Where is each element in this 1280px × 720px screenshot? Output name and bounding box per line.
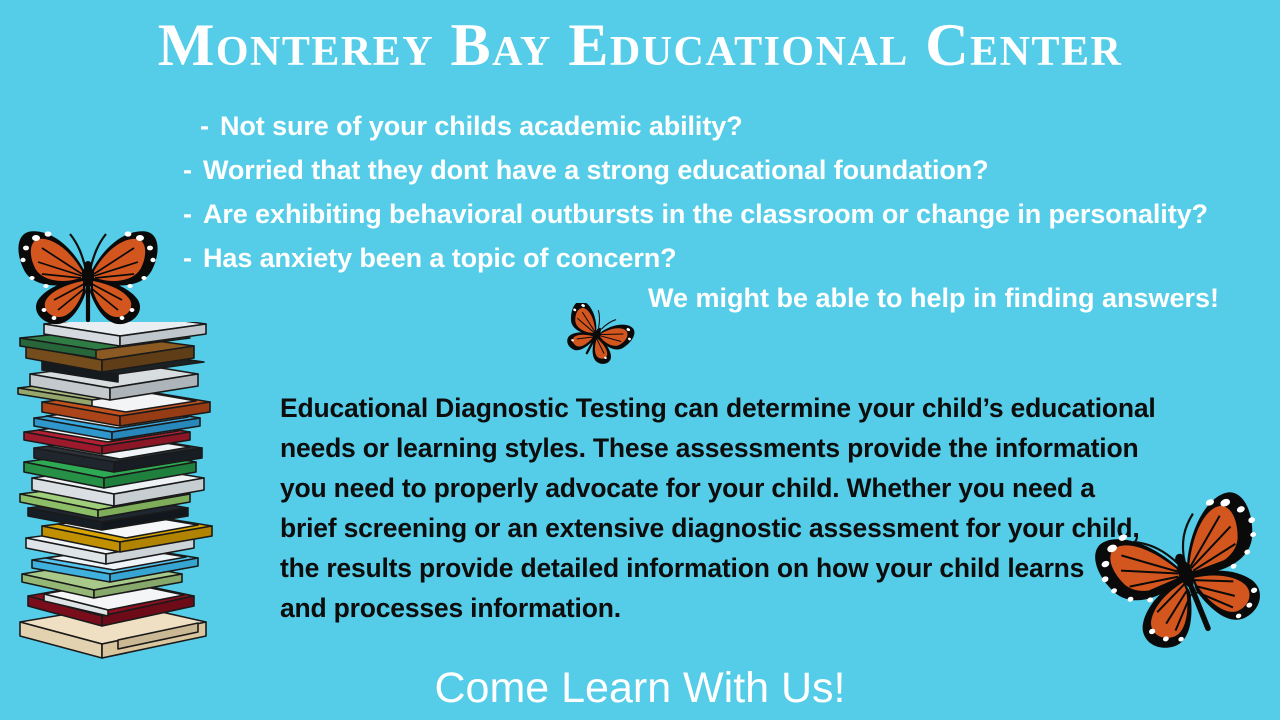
list-item: - Has anxiety been a topic of concern? bbox=[183, 236, 1243, 280]
question-list: - Not sure of your childs academic abili… bbox=[183, 104, 1243, 280]
paragraph-line: and processes information. bbox=[280, 588, 1170, 628]
paragraph-line: brief screening or an extensive diagnost… bbox=[280, 508, 1170, 548]
question-text: Are exhibiting behavioral outbursts in t… bbox=[203, 192, 1208, 236]
paragraph-line: you need to properly advocate for your c… bbox=[280, 468, 1170, 508]
paragraph-line: needs or learning styles. These assessme… bbox=[280, 428, 1170, 468]
butterfly-middle-icon bbox=[558, 303, 636, 365]
poster-canvas: Monterey Bay Educational Center - Not su… bbox=[0, 0, 1280, 720]
bullet-dash: - bbox=[200, 104, 220, 148]
list-item: - Not sure of your childs academic abili… bbox=[200, 104, 1243, 148]
list-item: - Worried that they dont have a strong e… bbox=[183, 148, 1243, 192]
butterfly-bottom-icon bbox=[1092, 486, 1280, 656]
book-stack-illustration bbox=[0, 322, 228, 667]
page-title: Monterey Bay Educational Center bbox=[0, 14, 1280, 77]
question-text: Worried that they dont have a strong edu… bbox=[203, 148, 989, 192]
bullet-dash: - bbox=[183, 236, 203, 280]
list-item: - Are exhibiting behavioral outbursts in… bbox=[183, 192, 1243, 236]
butterfly-top-icon bbox=[8, 218, 168, 338]
paragraph-line: Educational Diagnostic Testing can deter… bbox=[280, 388, 1170, 428]
paragraph-line: the results provide detailed information… bbox=[280, 548, 1170, 588]
body-paragraph: Educational Diagnostic Testing can deter… bbox=[280, 388, 1170, 628]
help-tagline: We might be able to help in finding answ… bbox=[648, 283, 1219, 314]
question-text: Not sure of your childs academic ability… bbox=[220, 104, 743, 148]
bullet-dash: - bbox=[183, 148, 203, 192]
bullet-dash: - bbox=[183, 192, 203, 236]
footer-tagline: Come Learn With Us! bbox=[0, 664, 1280, 713]
question-text: Has anxiety been a topic of concern? bbox=[203, 236, 677, 280]
